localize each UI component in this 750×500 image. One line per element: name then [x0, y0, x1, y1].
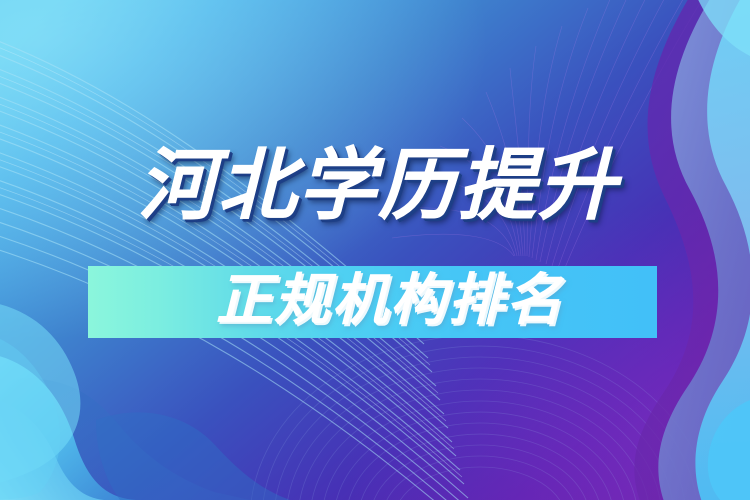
banner-subtitle: 正规机构排名: [216, 272, 564, 328]
banner-headline: 河北学历提升: [138, 146, 618, 224]
promo-banner: 河北学历提升 正规机构排名: [0, 0, 750, 500]
banner-content: 河北学历提升 正规机构排名: [0, 0, 750, 500]
